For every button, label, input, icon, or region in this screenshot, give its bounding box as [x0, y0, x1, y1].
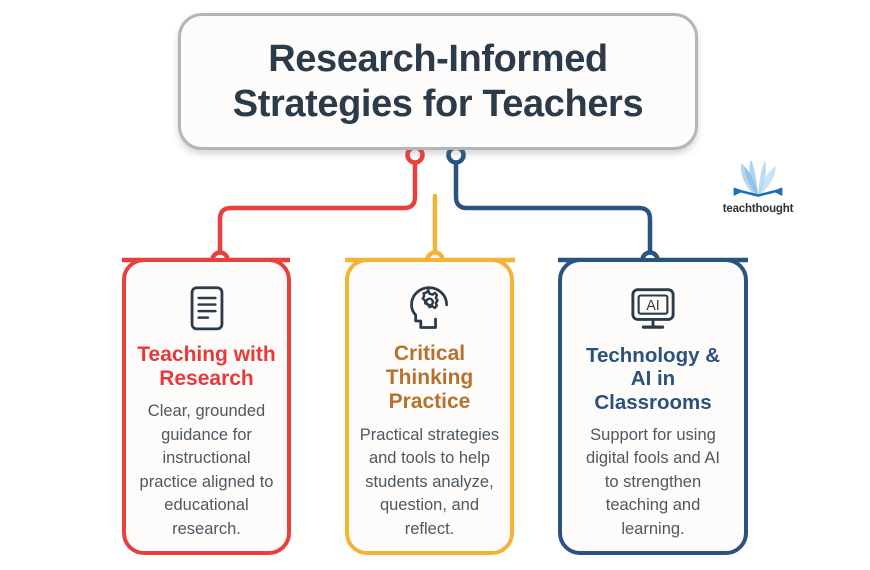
card-title-line-1: Critical	[394, 342, 465, 365]
title-banner: Research-Informed Strategies for Teacher…	[178, 13, 698, 150]
card-technology-and-ai-in-classrooms: AI Technology & AI in Classrooms Support…	[558, 258, 748, 555]
card-title-line-1: Teaching with	[137, 343, 275, 366]
card-title-teaching-with-research: Teaching with Research	[137, 343, 275, 391]
connector-path-red	[220, 155, 415, 260]
card-title-line-2: Thinking	[386, 366, 474, 389]
page-title-line-1: Research-Informed	[233, 37, 643, 82]
teachthought-logo: teachthought	[712, 157, 804, 221]
card-title-technology-and-ai-in-classrooms: Technology & AI in Classrooms	[570, 344, 736, 414]
page-title-line-2: Strategies for Teachers	[233, 82, 643, 127]
card-critical-thinking-practice: Critical Thinking Practice Practical str…	[345, 258, 514, 555]
connector-path-blue	[456, 155, 650, 260]
card-title-line-2: Research	[159, 367, 254, 390]
card-title-line-3: Practice	[389, 390, 471, 413]
document-lines-icon	[181, 284, 233, 333]
card-teaching-with-research: Teaching with Research Clear, grounded g…	[122, 258, 291, 555]
teachthought-wordmark: teachthought	[712, 203, 804, 215]
page-title: Research-Informed Strategies for Teacher…	[219, 37, 657, 127]
card-title-line-1: Technology &	[586, 344, 720, 367]
card-body-technology-and-ai-in-classrooms: Support for using digital fools and AI t…	[570, 424, 736, 541]
card-body-teaching-with-research: Clear, grounded guidance for instruction…	[134, 400, 279, 541]
infographic-root: Research-Informed Strategies for Teacher…	[0, 0, 870, 570]
card-body-critical-thinking-practice: Practical strategies and tools to help s…	[357, 424, 502, 541]
monitor-ai-icon: AI	[627, 284, 679, 334]
card-title-line-2: AI in Classrooms	[594, 367, 711, 413]
head-with-gear-icon	[404, 284, 456, 332]
open-book-fanned-pages-icon	[718, 157, 798, 202]
monitor-ai-label: AI	[646, 298, 660, 314]
card-title-critical-thinking-practice: Critical Thinking Practice	[386, 342, 474, 414]
